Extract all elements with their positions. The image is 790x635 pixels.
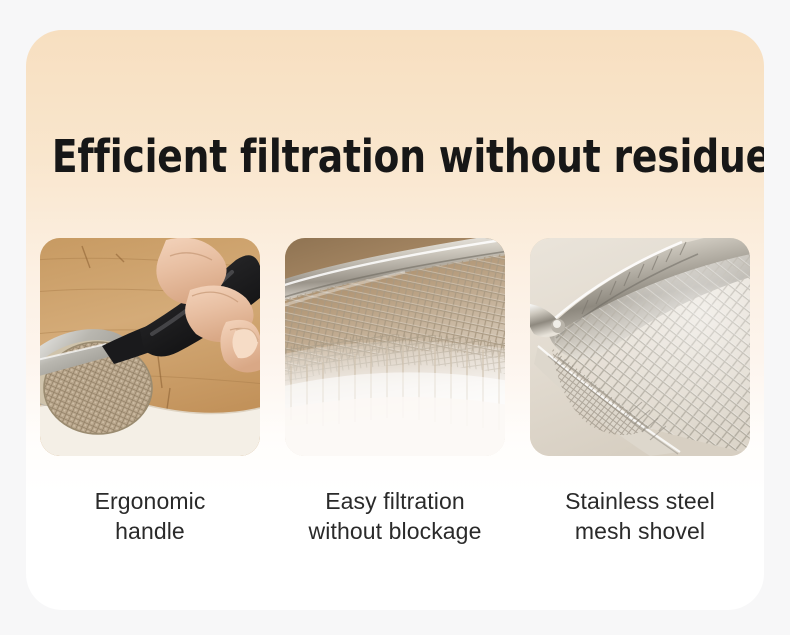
feature-list: Ergonomic handle	[40, 238, 750, 547]
feature-item-ergonomic-handle: Ergonomic handle	[40, 238, 260, 547]
promo-image-canvas: Efficient filtration without residue	[0, 0, 790, 635]
feature-caption: Stainless steel mesh shovel	[565, 486, 715, 547]
caption-line-1: Easy filtration	[309, 486, 482, 516]
photo-easy-filtration	[285, 238, 505, 456]
photo-mesh-shovel	[530, 238, 750, 456]
caption-line-2: without blockage	[309, 516, 482, 546]
photo-ergonomic-handle	[40, 238, 260, 456]
page-title: Efficient filtration without residue	[52, 134, 738, 179]
caption-line-2: mesh shovel	[565, 516, 715, 546]
feature-caption: Ergonomic handle	[95, 486, 206, 547]
feature-caption: Easy filtration without blockage	[309, 486, 482, 547]
caption-line-1: Ergonomic	[95, 486, 206, 516]
feature-item-easy-filtration: Easy filtration without blockage	[285, 238, 505, 547]
product-feature-card: Efficient filtration without residue	[26, 30, 764, 610]
caption-line-1: Stainless steel	[565, 486, 715, 516]
caption-line-2: handle	[95, 516, 206, 546]
feature-item-mesh-shovel: Stainless steel mesh shovel	[530, 238, 750, 547]
